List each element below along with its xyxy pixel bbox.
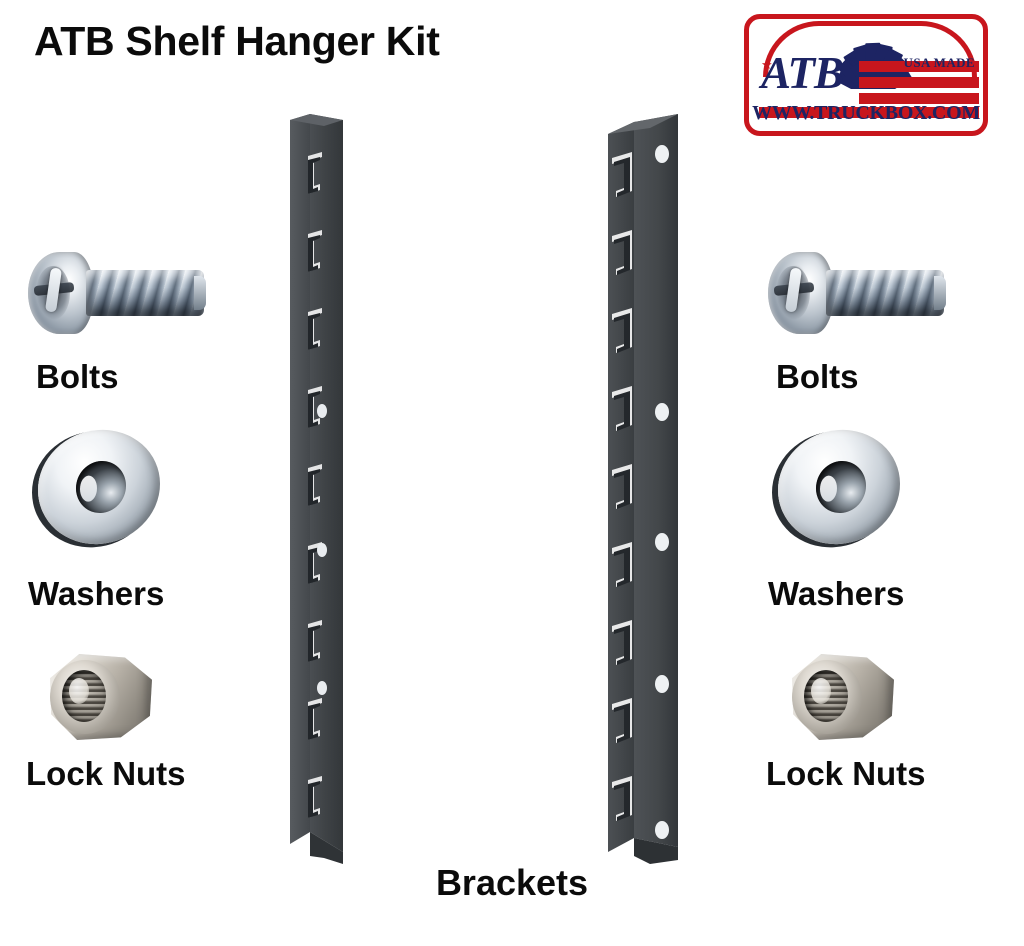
bolt-icon [768, 248, 948, 338]
logo-frame: ★ ATB ® USA MADE WWW.TRUCKBOX.COM [744, 14, 988, 136]
bracket-icon [604, 112, 694, 867]
bracket-icon [288, 112, 358, 867]
locknuts-right-label: Lock Nuts [766, 755, 926, 793]
logo-website-url: WWW.TRUCKBOX.COM [749, 102, 983, 125]
product-diagram: ATB Shelf Hanger Kit [0, 0, 1024, 946]
bolts-right-label: Bolts [776, 358, 859, 396]
bolt-icon [28, 248, 208, 338]
locknut-icon [782, 650, 902, 745]
page-title: ATB Shelf Hanger Kit [34, 18, 440, 65]
locknut-icon [40, 650, 160, 745]
brackets-label: Brackets [0, 862, 1024, 904]
locknuts-left-label: Lock Nuts [26, 755, 186, 793]
logo-wordmark: ATB [761, 51, 843, 96]
washer-icon [32, 428, 172, 548]
washers-left-label: Washers [28, 575, 164, 613]
logo-star-icon: ★ [761, 57, 773, 73]
logo-stripe-2 [859, 77, 979, 88]
atb-logo: ★ ATB ® USA MADE WWW.TRUCKBOX.COM [744, 14, 988, 136]
washers-right-label: Washers [768, 575, 904, 613]
washer-icon [772, 428, 912, 548]
bolts-left-label: Bolts [36, 358, 119, 396]
logo-usa-made: USA MADE [904, 55, 975, 71]
registered-mark-icon: ® [849, 55, 858, 69]
